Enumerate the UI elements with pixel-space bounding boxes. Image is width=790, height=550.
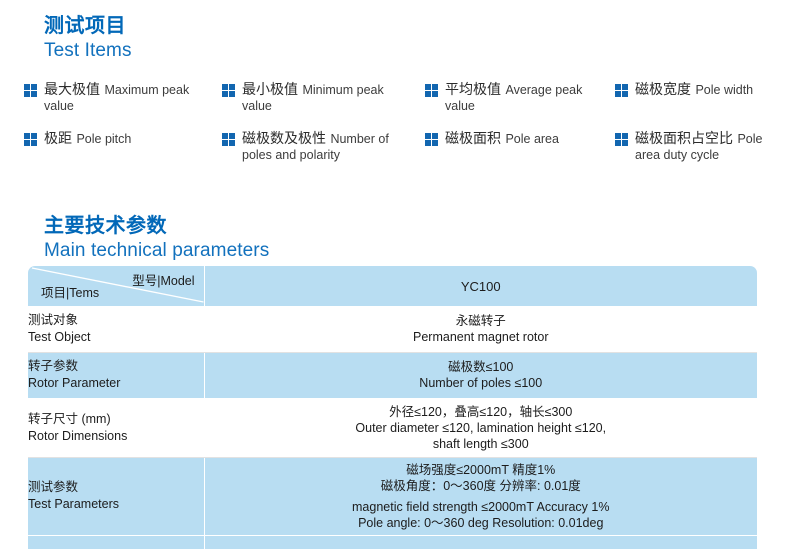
table-header-split-cell: 型号|Model 项目|Tems	[28, 266, 204, 306]
section-title-en: Main technical parameters	[44, 239, 269, 263]
test-item-average-peak-value: 平均极值 Average peak value	[425, 80, 615, 114]
square-grid-bullet-icon	[615, 84, 628, 97]
table-row: 转子参数 Rotor Parameter 磁极数≤100 Number of p…	[28, 352, 757, 398]
square-grid-bullet-icon	[615, 133, 628, 146]
square-grid-bullet-icon	[222, 84, 235, 97]
table-header-model-label: 型号|Model	[132, 270, 194, 289]
row-label-cell: 转子参数 Rotor Parameter	[28, 352, 204, 398]
test-item-label-cn: 最小极值	[242, 81, 298, 97]
test-item-label-en: Pole area	[505, 132, 559, 146]
row-label-cn: 转子尺寸 (mm)	[28, 411, 204, 428]
square-grid-bullet-icon	[222, 133, 235, 146]
row-value-cell: 永磁转子 Permanent magnet rotor	[204, 306, 757, 352]
test-item-label-cn: 磁极宽度	[635, 81, 691, 97]
square-grid-bullet-icon	[24, 133, 37, 146]
square-grid-bullet-icon	[425, 133, 438, 146]
row-label-cell: 测试对象 Test Object	[28, 306, 204, 352]
test-item-label-cn: 最大极值	[44, 81, 100, 97]
test-item-number-of-poles-and-polarity: 磁极数及极性 Number of poles and polarity	[222, 129, 425, 163]
test-item-label-cn: 磁极数及极性	[242, 130, 326, 146]
row-value-line: shaft length ≤300	[205, 436, 758, 452]
row-label-en: Rotor Dimensions	[28, 428, 204, 445]
model-name: YC100	[205, 279, 758, 294]
row-label-cell	[28, 535, 204, 549]
row-label-cn: 测试对象	[28, 312, 204, 329]
test-items-grid: 最大极值 Maximum peak value 最小极值 Minimum pea…	[24, 80, 782, 163]
test-item-pole-width: 磁极宽度 Pole width	[615, 80, 782, 98]
table-row: 测试参数 Test Parameters 磁场强度≤2000mT 精度1% 磁极…	[28, 457, 757, 535]
section-title-en: Test Items	[44, 39, 132, 63]
test-items-row: 极距 Pole pitch 磁极数及极性 Number of poles and…	[24, 129, 782, 163]
test-item-label-en: Pole pitch	[76, 132, 131, 146]
row-label-cn: 转子参数	[28, 358, 204, 375]
table-header-items-label: 项目|Tems	[41, 282, 99, 301]
row-value-cell: 外径≤120，叠高≤120，轴长≤300 Outer diameter ≤120…	[204, 398, 757, 457]
row-value-cell	[204, 535, 757, 549]
row-label-cell: 测试参数 Test Parameters	[28, 457, 204, 535]
square-grid-bullet-icon	[24, 84, 37, 97]
main-technical-parameters-table: 型号|Model 项目|Tems YC100 测试对象 Test Object …	[28, 266, 757, 550]
table-row: 测试对象 Test Object 永磁转子 Permanent magnet r…	[28, 306, 757, 352]
row-value-line: Pole angle: 0～360 deg Resolution: 0.01de…	[205, 515, 758, 531]
test-item-pole-area: 磁极面积 Pole area	[425, 129, 615, 147]
row-value-line: magnetic field strength ≤2000mT Accuracy…	[205, 499, 758, 515]
test-item-minimum-peak-value: 最小极值 Minimum peak value	[222, 80, 425, 114]
row-value-line: 永磁转子	[205, 313, 758, 329]
row-value-cell: 磁极数≤100 Number of poles ≤100	[204, 352, 757, 398]
test-item-maximum-peak-value: 最大极值 Maximum peak value	[24, 80, 222, 114]
row-label-en: Test Object	[28, 329, 204, 346]
row-label-cn: 测试参数	[28, 479, 204, 496]
row-value-line: 磁场强度≤2000mT 精度1%	[205, 462, 758, 478]
section-heading-test-items: 测试项目 Test Items	[24, 14, 132, 62]
row-label-en: Test Parameters	[28, 496, 204, 513]
test-item-pole-pitch: 极距 Pole pitch	[24, 129, 222, 147]
row-value-line: 磁极数≤100	[205, 359, 758, 375]
row-value-line: Number of poles ≤100	[205, 375, 758, 391]
row-value-line: 外径≤120，叠高≤120，轴长≤300	[205, 404, 758, 420]
test-item-label-cn: 平均极值	[445, 81, 501, 97]
test-item-label-cn: 极距	[44, 130, 72, 146]
table-row-truncated	[28, 535, 757, 549]
row-value-line: 磁极角度：0～360度 分辨率: 0.01度	[205, 478, 758, 494]
test-item-label-cn: 磁极面积占空比	[635, 130, 733, 146]
row-label-en: Rotor Parameter	[28, 375, 204, 392]
square-grid-bullet-icon	[425, 84, 438, 97]
test-item-label-en: Pole width	[695, 83, 753, 97]
section-title-cn: 测试项目	[44, 14, 132, 39]
table-row: 转子尺寸 (mm) Rotor Dimensions 外径≤120，叠高≤120…	[28, 398, 757, 457]
test-items-row: 最大极值 Maximum peak value 最小极值 Minimum pea…	[24, 80, 782, 129]
table-header-row: 型号|Model 项目|Tems YC100	[28, 266, 757, 306]
test-item-label-cn: 磁极面积	[445, 130, 501, 146]
row-value-line: Outer diameter ≤120, lamination height ≤…	[205, 420, 758, 436]
section-title-cn: 主要技术参数	[44, 214, 269, 239]
test-item-pole-area-duty-cycle: 磁极面积占空比 Pole area duty cycle	[615, 129, 782, 163]
row-value-line: Permanent magnet rotor	[205, 329, 758, 345]
section-heading-main-technical-parameters: 主要技术参数 Main technical parameters	[24, 214, 269, 262]
row-value-cell: 磁场强度≤2000mT 精度1% 磁极角度：0～360度 分辨率: 0.01度 …	[204, 457, 757, 535]
table-header-model-cell: YC100	[204, 266, 757, 306]
row-label-cell: 转子尺寸 (mm) Rotor Dimensions	[28, 398, 204, 457]
